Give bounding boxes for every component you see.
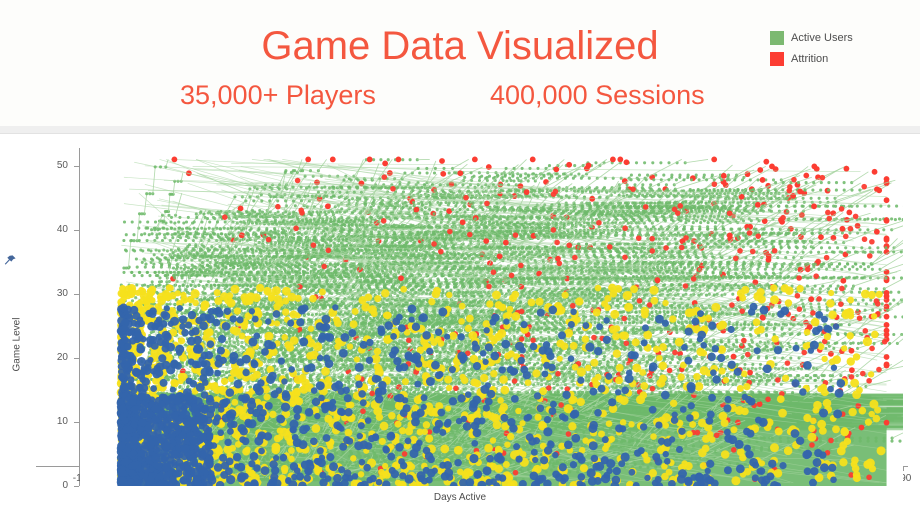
y-tick-mark (74, 486, 79, 487)
header: Game Data Visualized 35,000+ Players 400… (0, 0, 920, 127)
legend-item-active-users[interactable]: Active Users (770, 29, 910, 47)
y-tick-label: 40 (34, 225, 68, 235)
y-tick-mark (74, 166, 79, 167)
y-tick-label: 10 (34, 417, 68, 427)
game-data-dashboard: Game Data Visualized 35,000+ Players 400… (0, 0, 920, 517)
subtitle-sessions: 400,000 Sessions (490, 78, 705, 112)
x-tick-mark (903, 466, 904, 471)
y-axis-title: Game Level (12, 295, 23, 395)
y-tick-mark (74, 230, 79, 231)
y-tick-label: 30 (34, 289, 68, 299)
legend-label-active-users: Active Users (791, 31, 853, 45)
y-tick-label: 50 (34, 161, 68, 171)
legend-swatch-green (770, 31, 784, 45)
legend-label-attrition: Attrition (791, 52, 828, 66)
chart-area: 01020304050 -100102030405060708090100110… (0, 134, 920, 517)
x-axis-title: Days Active (0, 492, 920, 503)
legend: Active Users Attrition (770, 29, 910, 71)
y-tick-mark (74, 294, 79, 295)
header-divider (0, 126, 920, 134)
scatter-points-layer (80, 153, 903, 486)
legend-item-attrition[interactable]: Attrition (770, 50, 910, 68)
pin-icon (3, 254, 17, 268)
y-tick-label: 20 (34, 353, 68, 363)
y-tick-mark (74, 422, 79, 423)
y-tick-mark (74, 358, 79, 359)
scatter-plot[interactable] (80, 153, 903, 486)
subtitle-group: 35,000+ Players 400,000 Sessions (150, 78, 770, 112)
legend-swatch-red (770, 52, 784, 66)
subtitle-players: 35,000+ Players (180, 78, 376, 112)
